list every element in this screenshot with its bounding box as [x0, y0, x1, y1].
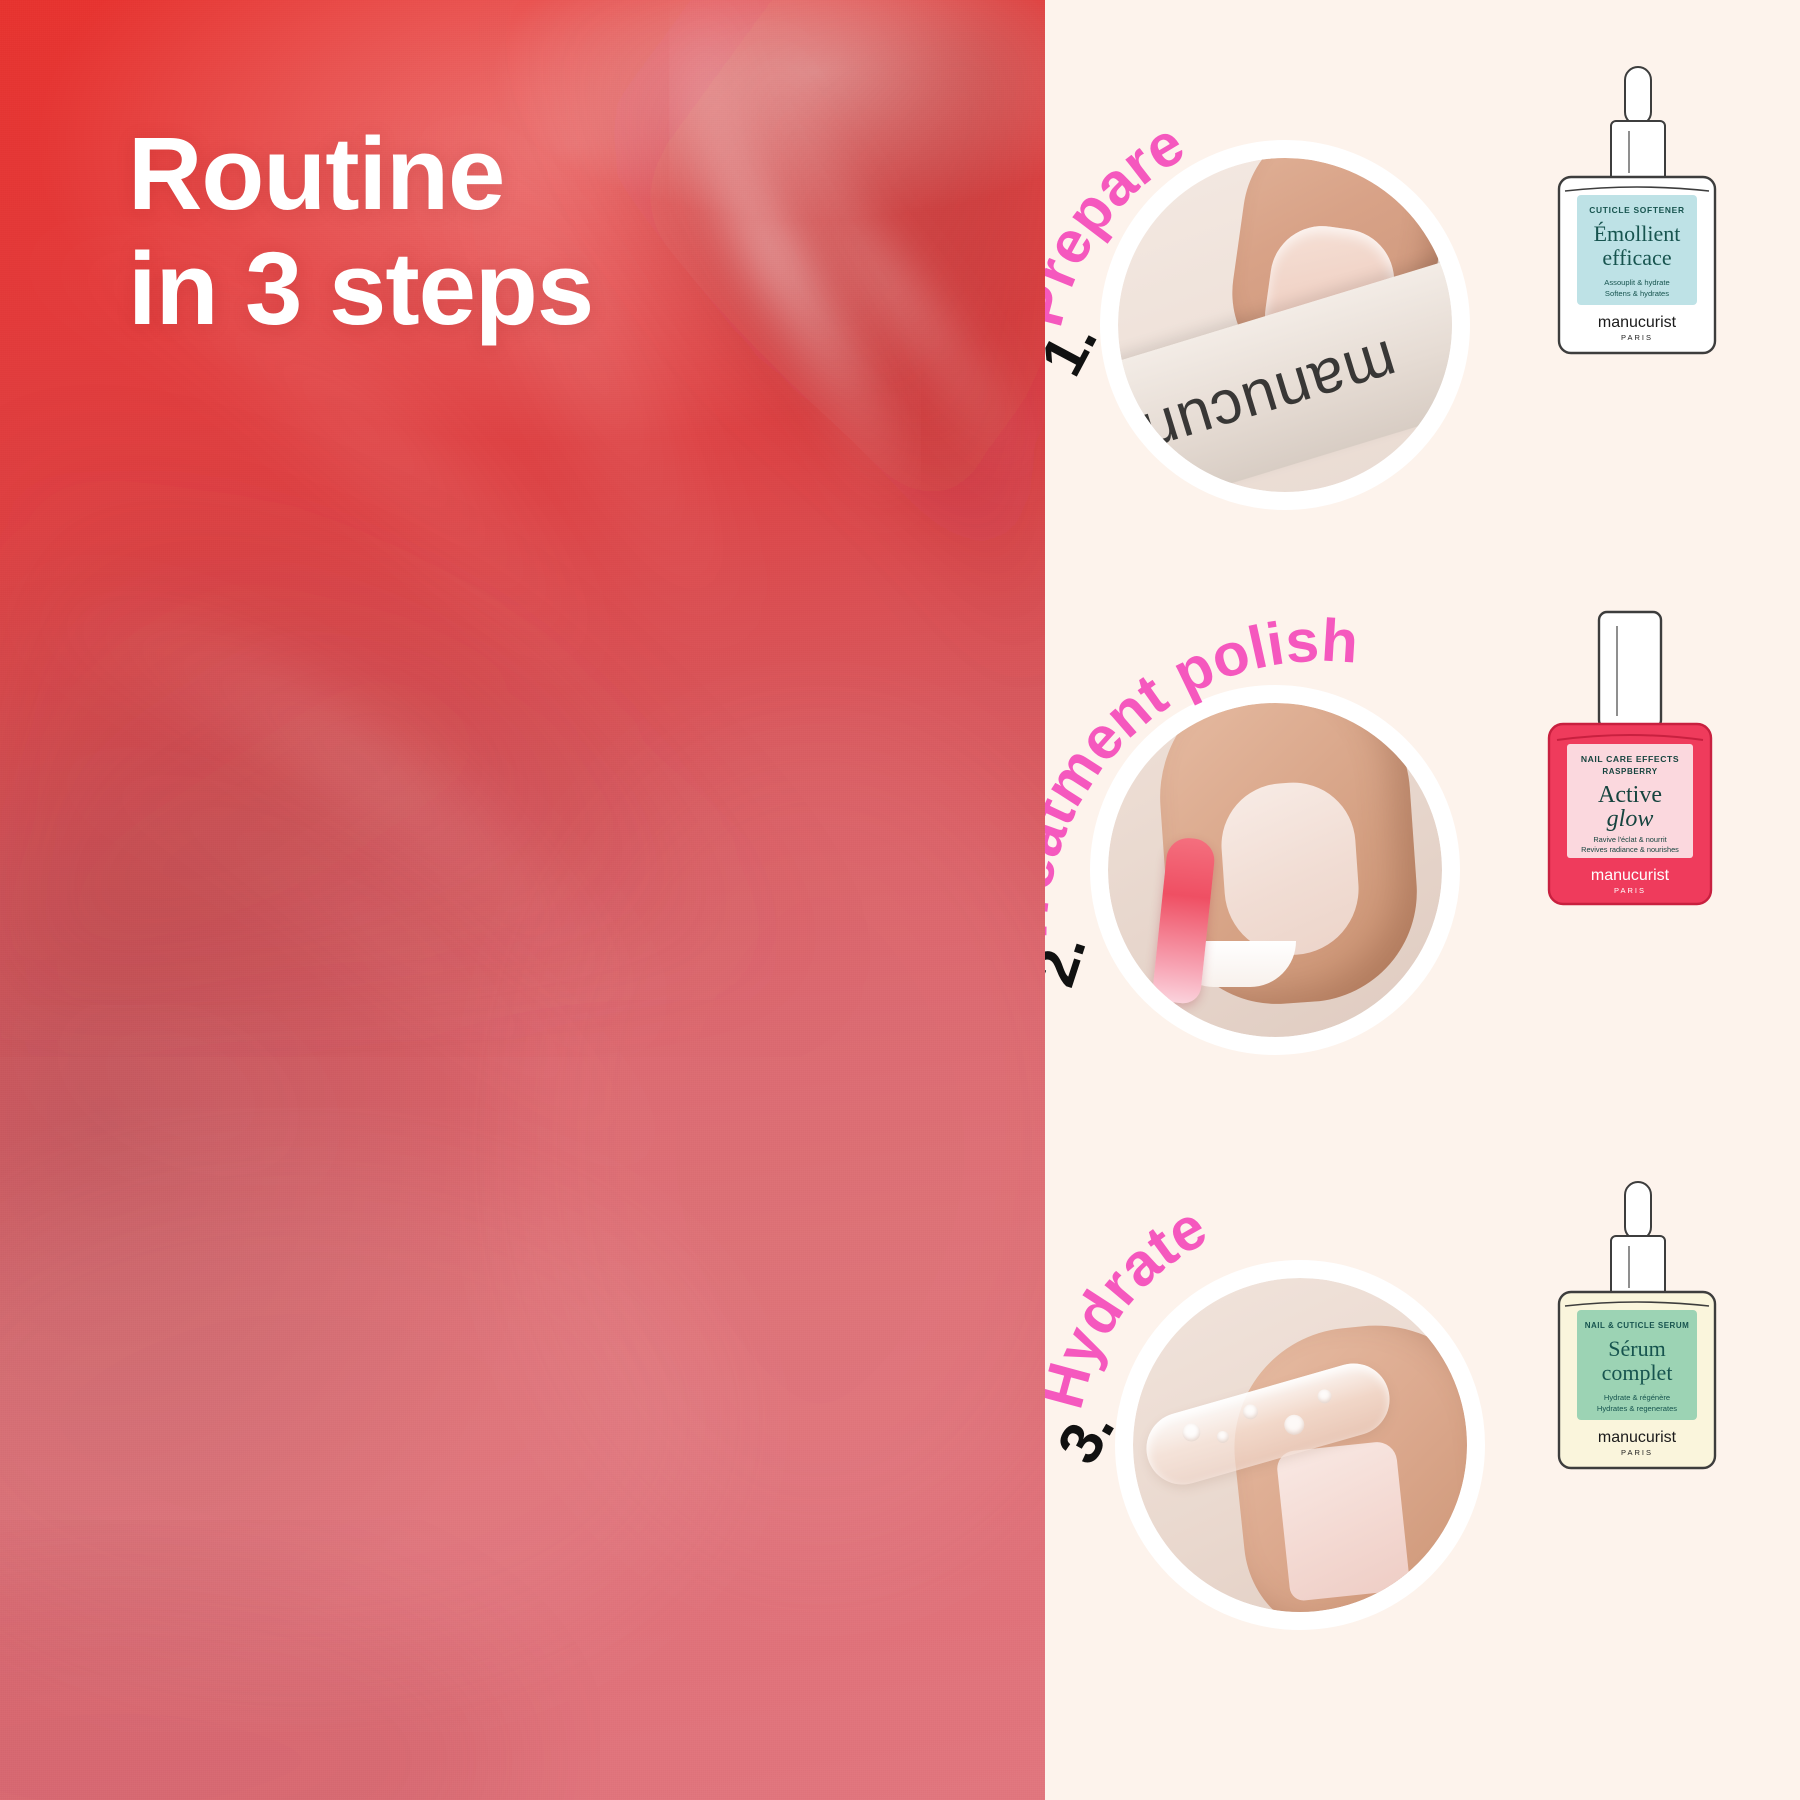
step-item[interactable]: 3. Hydrate NAIL & CUTICLE SERUM Sérum co… — [1045, 1170, 1800, 1730]
product-category-sub: RASPBERRY — [1602, 767, 1657, 776]
nail-file-brand-text: manucurist — [1118, 326, 1406, 482]
brand-subtitle: PARIS — [1621, 1448, 1653, 1457]
brand-name: manucurist — [1598, 1429, 1677, 1446]
brand-subtitle: PARIS — [1621, 333, 1653, 342]
polish-cap-icon — [1599, 612, 1661, 728]
product-bottle[interactable]: NAIL CARE EFFECTS RASPBERRY Active glow … — [1525, 610, 1735, 915]
step-item[interactable]: 2. Treatment polish NAIL CARE EFFECTS — [1045, 610, 1800, 1170]
dropper-bulb-icon — [1625, 67, 1651, 125]
product-claim-en: Revives radiance & nourishes — [1581, 845, 1679, 854]
product-name-line2: efficace — [1602, 245, 1671, 270]
product-category: NAIL & CUTICLE SERUM — [1585, 1321, 1690, 1330]
page-title: Routine in 3 steps — [128, 116, 593, 347]
product-bottle[interactable]: CUTICLE SOFTENER Émollient efficace Asso… — [1537, 65, 1737, 360]
step-photo-disc — [1115, 1260, 1485, 1630]
poster-canvas: Routine in 3 steps manucurist — [0, 0, 1800, 1800]
product-category: NAIL CARE EFFECTS — [1581, 754, 1679, 764]
dropper-collar-icon — [1611, 121, 1665, 183]
product-name-line1: Sérum — [1608, 1336, 1665, 1361]
product-name-line1: Active — [1598, 782, 1662, 808]
step-photo-disc: manucurist — [1100, 140, 1470, 510]
product-category: CUTICLE SOFTENER — [1589, 205, 1684, 215]
product-claim-en: Hydrates & regenerates — [1597, 1404, 1677, 1413]
brand-name: manucurist — [1591, 867, 1670, 884]
left-hero-panel: Routine in 3 steps — [0, 0, 1045, 1800]
brand-subtitle: PARIS — [1614, 886, 1646, 895]
product-claim-en: Softens & hydrates — [1605, 289, 1669, 298]
dropper-bulb-icon — [1625, 1182, 1651, 1240]
step-number: 2. — [1045, 926, 1099, 994]
brand-name: manucurist — [1598, 314, 1677, 331]
dropper-collar-icon — [1611, 1236, 1665, 1298]
product-bottle[interactable]: NAIL & CUTICLE SERUM Sérum complet Hydra… — [1537, 1180, 1737, 1475]
product-name-line2: glow — [1607, 806, 1654, 832]
product-name-line1: Émollient — [1594, 221, 1681, 246]
product-name-line2: complet — [1602, 1360, 1673, 1385]
product-claim-fr: Hydrate & régénère — [1604, 1393, 1670, 1402]
step-item[interactable]: manucurist 1. Prepare — [1045, 60, 1800, 620]
step-photo-disc — [1090, 685, 1460, 1055]
product-claim-fr: Assouplit & hydrate — [1604, 278, 1669, 287]
steps-panel: manucurist 1. Prepare — [1045, 0, 1800, 1800]
product-claim-fr: Ravive l'éclat & nourrit — [1593, 835, 1666, 844]
